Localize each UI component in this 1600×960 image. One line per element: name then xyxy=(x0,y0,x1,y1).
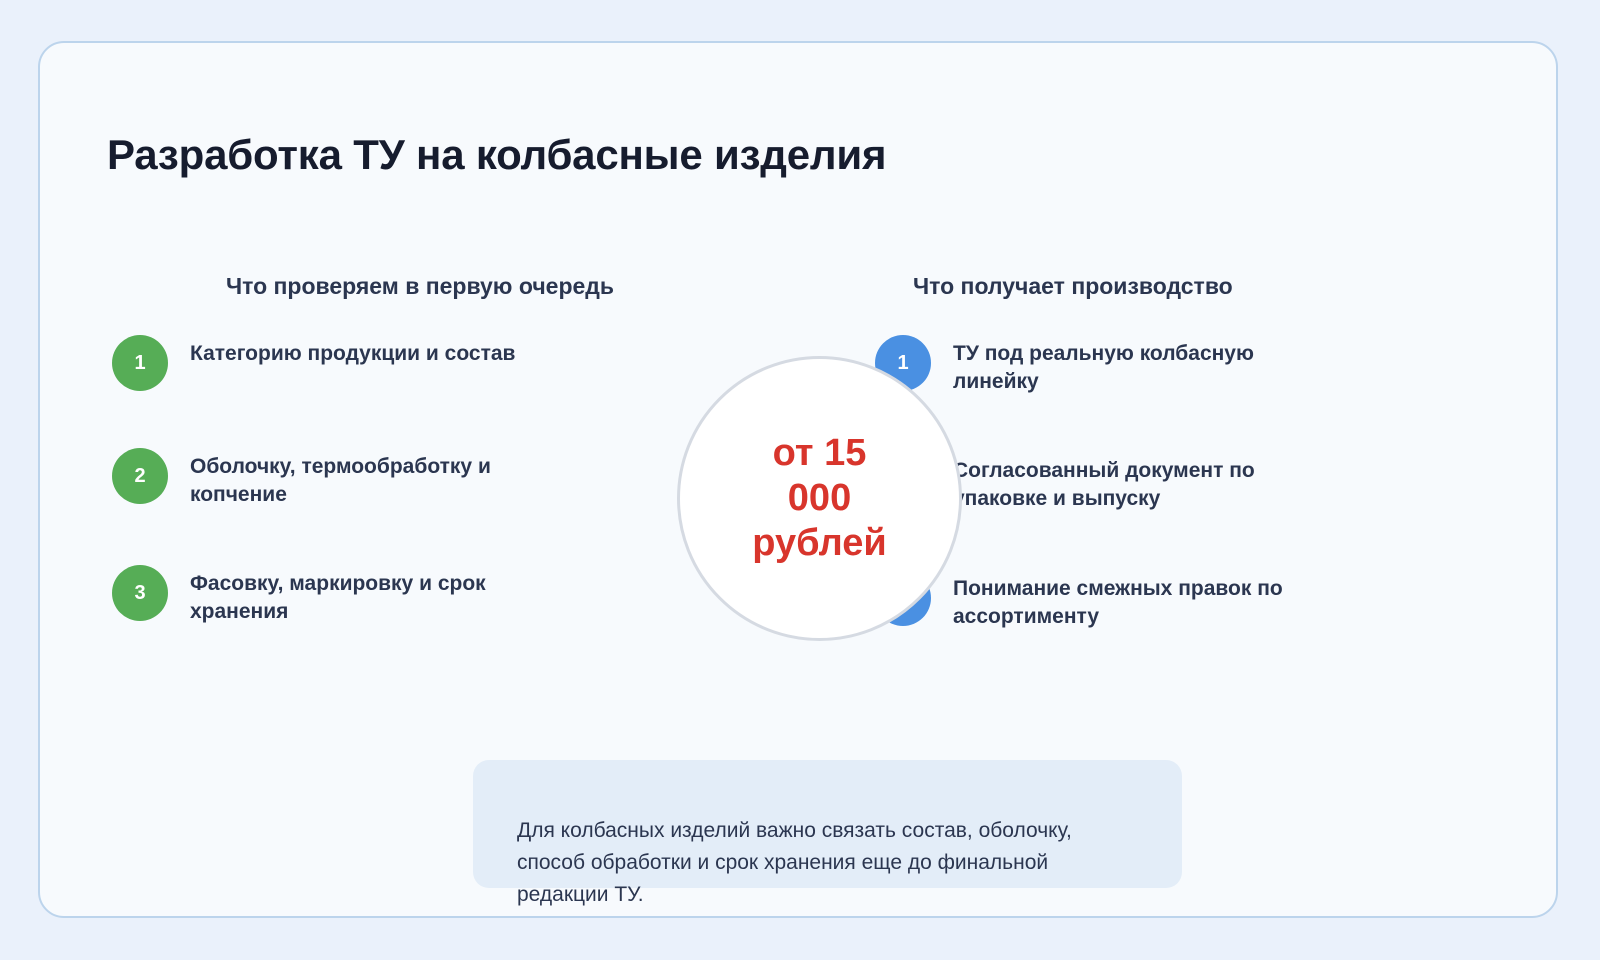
badge-number-icon: 1 xyxy=(112,335,168,391)
list-item-label: Понимание смежных правок по ассортименту xyxy=(953,568,1331,630)
list-item: 3 Фасовку, маркировку и срок хранения xyxy=(112,563,732,625)
price-badge: от 15 000 рублей xyxy=(677,356,962,641)
checks-list: 1 Категорию продукции и состав 2 Оболочк… xyxy=(112,333,732,626)
list-item-label: Фасовку, маркировку и срок хранения xyxy=(190,563,560,625)
list-item: 2 Оболочку, термообработку и копчение xyxy=(112,446,732,508)
note-text: Для колбасных изделий важно связать сост… xyxy=(517,815,1117,911)
column-checks: Что проверяем в первую очередь 1 Категор… xyxy=(112,273,732,626)
price-label: от 15 000 рублей xyxy=(740,431,900,565)
badge-number-icon: 2 xyxy=(112,448,168,504)
column-outcomes: Что получает производство 1 ТУ под реаль… xyxy=(875,273,1405,630)
list-item-label: Оболочку, термообработку и копчение xyxy=(190,446,560,508)
list-item: 3 Понимание смежных правок по ассортимен… xyxy=(875,568,1405,630)
infographic-card: Разработка ТУ на колбасные изделия Что п… xyxy=(38,41,1558,918)
list-item-label: ТУ под реальную колбасную линейку xyxy=(953,333,1331,395)
list-item-label: Категорию продукции и состав xyxy=(190,333,515,368)
list-item: 1 ТУ под реальную колбасную линейку xyxy=(875,333,1405,395)
badge-number-icon: 3 xyxy=(112,565,168,621)
column-header-outcomes: Что получает производство xyxy=(875,273,1405,300)
list-item-label: Согласованный документ по упаковке и вып… xyxy=(953,450,1331,512)
column-header-checks: Что проверяем в первую очередь xyxy=(112,273,732,300)
note-box: Для колбасных изделий важно связать сост… xyxy=(473,760,1182,888)
list-item: 1 Категорию продукции и состав xyxy=(112,333,732,391)
page-title: Разработка ТУ на колбасные изделия xyxy=(107,131,886,179)
